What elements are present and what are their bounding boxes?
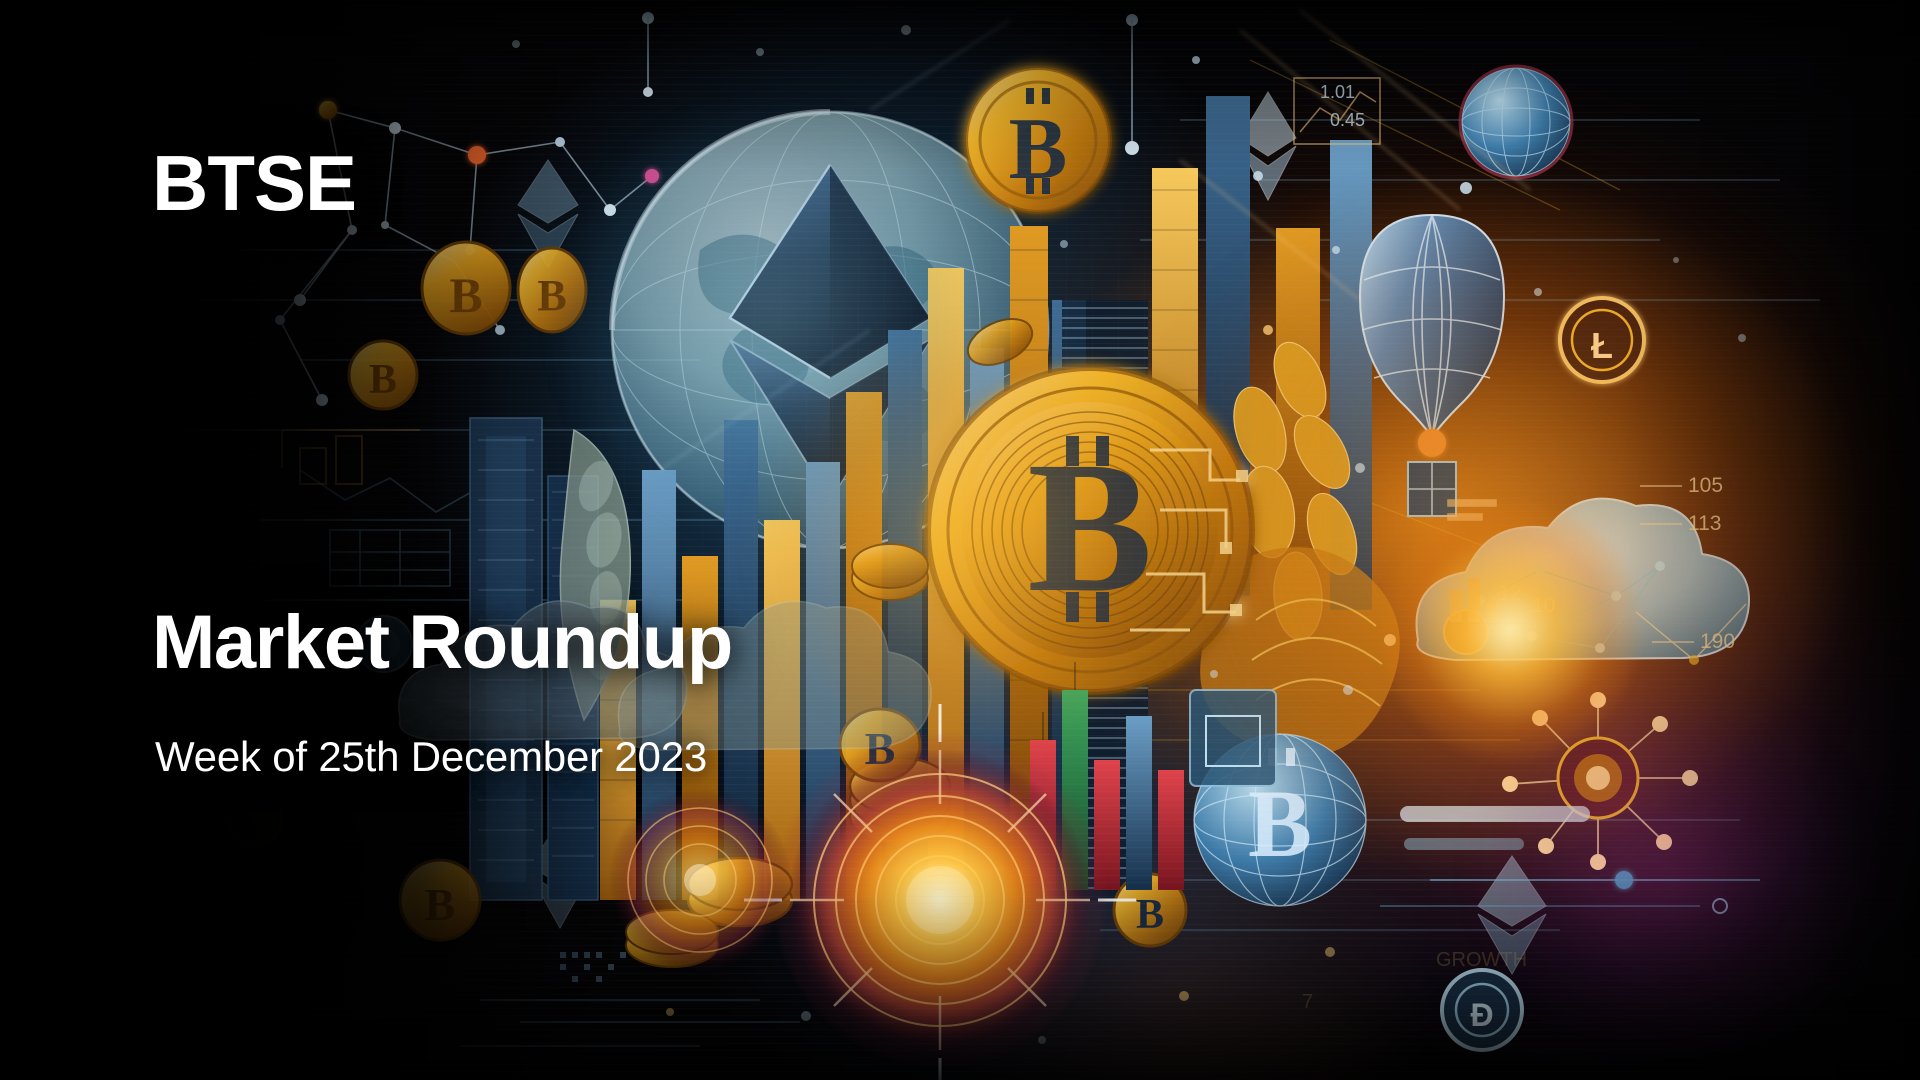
banner-text-layer: BTSE Market Roundup Week of 25th Decembe… [0,0,1920,1080]
page-title: Market Roundup [152,605,732,681]
page-subtitle: Week of 25th December 2023 [155,736,707,778]
market-roundup-banner: B B B B [0,0,1920,1080]
btse-logo: BTSE [152,144,356,222]
